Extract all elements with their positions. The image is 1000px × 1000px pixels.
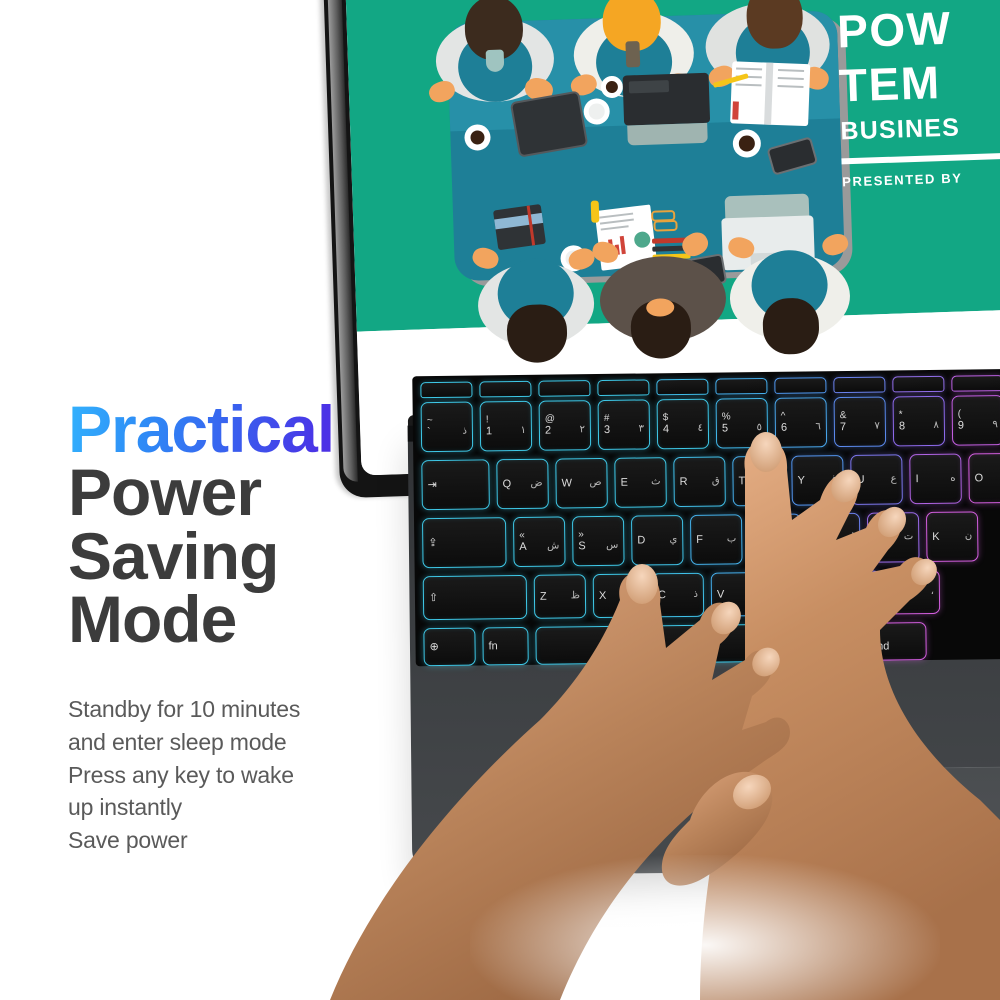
notebook-band (494, 213, 543, 230)
key-arabic-legend: ع (891, 473, 897, 485)
text-panel: Practical Power Saving Mode Standby for … (68, 398, 398, 857)
key-arabic-legend: ٩ (992, 420, 998, 432)
key-x[interactable]: Xط (593, 573, 646, 618)
key-top-legend: ⌘ (868, 629, 920, 641)
key-main-legend: 7٧ (840, 421, 880, 434)
key-f6[interactable] (715, 378, 767, 395)
description-line-3: Press any key to wake (68, 759, 398, 792)
key-e[interactable]: Eث (614, 457, 667, 508)
key-latin-legend: K (932, 531, 939, 543)
key-latin-legend: B (776, 588, 783, 600)
key-latin-legend: F (696, 534, 703, 546)
key-b[interactable]: Bر (770, 571, 823, 616)
keyboard-shift-row[interactable]: ⇧ZظXطCذVدBرNى‹، (423, 570, 940, 620)
key-main-legend: Hا (814, 532, 854, 545)
key-t[interactable]: Tف (732, 456, 785, 507)
key-main-legend: Oخ (974, 472, 1000, 485)
key-main-legend: Fب (696, 533, 736, 546)
key-latin-legend: I (915, 473, 918, 485)
slide-title-line1: POW (836, 0, 1000, 59)
key-z[interactable]: Zظ (534, 574, 587, 619)
key-f7[interactable] (774, 377, 826, 394)
key-f2[interactable] (479, 381, 531, 398)
key-top-legend: ^ (781, 411, 821, 423)
key-latin-legend: ⊕ (429, 641, 438, 653)
key-arabic-legend: ش (547, 541, 559, 553)
key-main-legend: Qض (503, 478, 543, 491)
key-arabic-legend: ا (851, 532, 854, 544)
key-top-legend: ~ (427, 415, 467, 427)
key-cmd[interactable]: ⌘cmd (862, 622, 926, 661)
poster-canvas: POW TEM BUSINES PRESENTED BY ~`ذ!1١@2٢#3… (0, 0, 1000, 1000)
key-v[interactable]: Vد (711, 572, 764, 617)
key-f8[interactable] (833, 377, 885, 394)
keyboard-home-row[interactable]: ⇪«Aش»SسDيFبGلHاJتKن (422, 511, 979, 568)
pie-chart (633, 231, 651, 249)
key-arabic-legend: ، (931, 586, 934, 598)
paper-clip-2 (653, 220, 677, 232)
person-bottom-right (729, 252, 852, 356)
table-laptop-1 (623, 73, 711, 148)
key-latin-legend: 7 (840, 421, 846, 433)
key-arabic-legend: ض (530, 478, 542, 490)
key-main-legend: Aش (519, 541, 559, 554)
key-main-legend: Rق (679, 475, 719, 488)
key-arabic-legend: ١ (520, 425, 526, 437)
key-8[interactable]: *8٨ (893, 396, 946, 447)
key-top-legend: ( (958, 408, 998, 420)
key-k0[interactable]: ⇪ (422, 517, 507, 568)
key-top-legend: @ (545, 413, 585, 425)
key-main-legend: cmd (869, 641, 921, 654)
description-line-5: Save power (68, 824, 398, 857)
laptop-screen-part (627, 123, 708, 146)
key-main-legend: `ذ (427, 426, 467, 439)
key-o[interactable]: Oخ (968, 453, 1000, 504)
key-latin-legend: D (637, 534, 645, 546)
key-top-legend: $ (663, 412, 703, 424)
key-main-legend: Nى (835, 586, 875, 599)
key-latin-legend: 5 (722, 423, 728, 435)
headline-line-mode: Mode (68, 588, 398, 651)
key-u[interactable]: Uع (850, 454, 903, 505)
desk-light-glow (470, 855, 940, 1000)
key-main-legend: ⊕ (429, 640, 469, 653)
key-main-legend: Sس (578, 540, 618, 553)
key-latin-legend: ⇧ (429, 592, 438, 604)
key-y[interactable]: Yغ (791, 455, 844, 506)
key-k0[interactable]: ⇥ (421, 459, 490, 510)
key-3[interactable]: #3٣ (598, 399, 651, 450)
key-f4[interactable] (597, 379, 649, 396)
key-arabic-legend: د (752, 588, 757, 600)
keyboard-bottom-row[interactable]: ⊕fn⌘cmd (423, 622, 926, 666)
description-line-2: and enter sleep mode (68, 726, 398, 759)
key-latin-legend: W (562, 477, 573, 489)
key-c[interactable]: Cذ (652, 573, 705, 618)
key-r[interactable]: Rق (673, 456, 726, 507)
key-top-legend: & (840, 410, 880, 422)
key-latin-legend: ` (427, 427, 431, 439)
key-f3[interactable] (538, 380, 590, 397)
key-latin-legend: 1 (486, 426, 492, 438)
key-latin-legend: U (856, 474, 864, 486)
key-top-legend: » (578, 529, 618, 541)
key-top-legend: # (604, 413, 644, 425)
key-latin-legend: V (717, 588, 724, 600)
key-arabic-legend: ٤ (697, 423, 703, 435)
key-latin-legend: Z (540, 591, 547, 603)
head-dark (506, 304, 568, 364)
slide-subtitle: BUSINES (840, 107, 1000, 146)
slide-title-block: POW TEM BUSINES PRESENTED BY (836, 0, 1000, 189)
key-arabic-legend: ٦ (815, 422, 821, 434)
text-line (601, 225, 629, 230)
key-arabic-legend: س (606, 540, 618, 552)
key-arabic-legend: ل (788, 532, 795, 544)
key-main-legend: 4٤ (663, 423, 703, 436)
key-latin-legend: G (755, 533, 764, 545)
rule-line (735, 83, 761, 86)
key-latin-legend: 2 (545, 425, 551, 437)
meeting-illustration (431, 0, 862, 318)
key-latin-legend: E (620, 477, 627, 489)
description-line-4: up instantly (68, 791, 398, 824)
key-arabic-legend: ٥ (756, 422, 762, 434)
key-top-legend: * (899, 409, 939, 421)
slide-title-line2: TEM (838, 49, 1000, 113)
key-latin-legend: X (599, 590, 606, 602)
key-latin-legend: R (679, 476, 687, 488)
key-main-legend: 9٩ (958, 420, 998, 433)
key-latin-legend: 3 (604, 424, 610, 436)
key-fn[interactable]: fn (482, 627, 528, 666)
key-arabic-legend: ه (950, 473, 955, 485)
key-arabic-legend: ب (727, 533, 737, 545)
key-k0[interactable]: ⇧ (423, 575, 528, 620)
key-k[interactable]: Kن (926, 511, 979, 562)
key-latin-legend: ⇥ (428, 479, 437, 491)
key-f9[interactable] (892, 376, 944, 393)
key-arabic-legend: ت (904, 531, 914, 543)
person-bottom-center (599, 254, 728, 360)
key-latin-legend: Y (797, 474, 804, 486)
text-line (600, 219, 634, 225)
key-arabic-legend: ف (768, 475, 779, 487)
key-latin-legend: 9 (958, 420, 964, 432)
person-bottom-left (477, 261, 596, 365)
key-g[interactable]: Gل (749, 514, 802, 565)
rule-line (778, 77, 804, 80)
key-main-legend: Vد (717, 588, 757, 601)
key-latin-legend: J (873, 531, 879, 543)
key-f1[interactable] (420, 382, 472, 399)
description-line-1: Standby for 10 minutes (68, 693, 398, 726)
key-main-legend: 8٨ (899, 420, 939, 433)
keyboard[interactable]: ~`ذ!1١@2٢#3٣$4٤%5٥^6٦&7٧*8٨(9٩)0٠ ⇥QضWصE… (412, 368, 1000, 667)
key-arabic-legend: ق (712, 475, 720, 487)
open-notebook (730, 61, 810, 126)
key-top-legend: % (722, 411, 762, 423)
key-arabic-legend: ظ (571, 590, 580, 602)
key-a[interactable]: «Aش (513, 516, 566, 567)
rule-line (736, 67, 762, 70)
keyboard-number-row[interactable]: ~`ذ!1١@2٢#3٣$4٤%5٥^6٦&7٧*8٨(9٩)0٠ (421, 394, 1000, 452)
key-main-legend: 3٣ (604, 424, 644, 437)
key-main-legend: ‹، (894, 586, 934, 599)
key-arabic-legend: ص (589, 477, 601, 489)
person-top-left (434, 0, 555, 98)
key-main-legend: Uع (856, 473, 896, 486)
key-latin-legend: T (738, 475, 745, 487)
key-latin-legend: S (578, 541, 585, 553)
key-2[interactable]: @2٢ (539, 400, 592, 451)
key-main-legend: Gل (755, 532, 795, 545)
bar (620, 236, 626, 254)
bookmark (732, 101, 739, 119)
key-main-legend: Dي (637, 534, 677, 547)
key-9[interactable]: (9٩ (952, 395, 1000, 446)
key-main-legend: 2٢ (545, 425, 585, 438)
key-h[interactable]: Hا (808, 513, 861, 564)
key-top-legend: « (519, 530, 559, 542)
key-1[interactable]: !1١ (480, 401, 533, 452)
marker-pen (591, 200, 600, 222)
key-latin-legend: ⇪ (428, 537, 437, 549)
key-d[interactable]: Dي (631, 515, 684, 566)
page-title: Practical Power Saving Mode (68, 398, 398, 651)
tablet-device (510, 90, 589, 157)
key-main-legend: Yغ (797, 474, 837, 487)
head-dark (762, 297, 820, 355)
key-main-legend: Xط (599, 589, 639, 602)
rule-line (778, 69, 804, 72)
key-main-legend: Jت (873, 531, 913, 544)
key-j[interactable]: Jت (867, 512, 920, 563)
keyboard-qwerty-row[interactable]: ⇥QضWصEثRقTفYغUعIهOخ (421, 453, 1000, 510)
necktie (625, 41, 640, 67)
key-latin-legend: Q (503, 478, 512, 490)
key-main-legend: Iه (915, 473, 955, 486)
key-f5[interactable] (656, 379, 708, 396)
key-latin-legend: C (658, 589, 666, 601)
key-6[interactable]: ^6٦ (775, 397, 828, 448)
headline-line-saving: Saving (68, 525, 398, 588)
key-arabic-legend: ن (965, 530, 972, 542)
key-f[interactable]: Fب (690, 514, 743, 565)
key-n[interactable]: Nى (829, 571, 882, 616)
text-line (599, 213, 633, 219)
key-arabic-legend: ٣ (638, 424, 644, 436)
key-main-legend: Bر (776, 587, 816, 600)
key-latin-legend: A (519, 541, 526, 553)
key-latin-legend: N (835, 587, 843, 599)
key-w[interactable]: Wص (555, 458, 608, 509)
key-latin-legend: cmd (869, 641, 890, 654)
key-top-legend: ! (486, 414, 526, 426)
key-4[interactable]: $4٤ (657, 399, 710, 450)
key-latin-legend: 4 (663, 424, 669, 436)
key-arabic-legend: ٨ (933, 420, 939, 432)
key-main-legend: Cذ (658, 589, 698, 602)
key-k0[interactable]: ⊕ (423, 628, 475, 667)
key-arabic-legend: ي (669, 534, 677, 546)
key-arabic-legend: غ (832, 474, 838, 486)
key-i[interactable]: Iه (909, 454, 962, 505)
key-latin-legend: fn (488, 640, 497, 652)
key-f10[interactable] (951, 375, 1000, 392)
key-7[interactable]: &7٧ (834, 397, 887, 448)
key-main-legend: Wص (562, 477, 602, 490)
key-latin-legend: H (814, 532, 822, 544)
key-main-legend: 5٥ (722, 422, 762, 435)
key-key[interactable] (535, 623, 855, 665)
key-arabic-legend: ث (651, 476, 661, 488)
key-main-legend: ⇥ (428, 478, 484, 491)
key-main-legend: ⇪ (428, 536, 500, 549)
key-arabic-legend: ر (811, 587, 816, 599)
key-main-legend: ⇧ (429, 591, 521, 604)
key-arabic-legend: ٢ (579, 425, 585, 437)
description-text: Standby for 10 minutes and enter sleep m… (68, 693, 398, 856)
key-k7[interactable]: ‹، (888, 570, 941, 615)
spiral-binding (764, 63, 773, 125)
key-main-legend: Eث (620, 476, 660, 489)
key-arabic-legend: ذ (693, 589, 698, 601)
key-main-legend: fn (488, 640, 522, 653)
key-main-legend: Kن (932, 530, 972, 543)
key-arabic-legend: ى (867, 586, 875, 598)
headline-line-power: Power (68, 461, 398, 524)
key-5[interactable]: %5٥ (716, 398, 769, 449)
key-latin-legend: 6 (781, 422, 787, 434)
key-main-legend: Tف (738, 475, 778, 488)
key-q[interactable]: Qض (496, 459, 549, 510)
key-arabic-legend: ط (630, 589, 639, 601)
rule-line (777, 85, 803, 88)
key-latin-legend: O (974, 472, 983, 484)
key-main-legend: 6٦ (781, 422, 821, 435)
key-main-legend: Zظ (540, 590, 580, 603)
key-s[interactable]: »Sس (572, 516, 625, 567)
key-latin-legend: 8 (899, 421, 905, 433)
key-arabic-legend: ٧ (874, 421, 880, 433)
key-latin-legend: ‹ (894, 586, 898, 598)
key-arabic-legend: ذ (462, 426, 467, 438)
key-k0[interactable]: ~`ذ (421, 402, 474, 453)
collar (486, 50, 505, 73)
headline-line-practical: Practical (68, 398, 398, 461)
slide-divider (841, 151, 1000, 164)
laptop-trackpad (629, 80, 669, 93)
closed-notebook (493, 204, 546, 250)
key-main-legend: 1١ (486, 425, 526, 438)
notebook-elastic (527, 206, 535, 246)
